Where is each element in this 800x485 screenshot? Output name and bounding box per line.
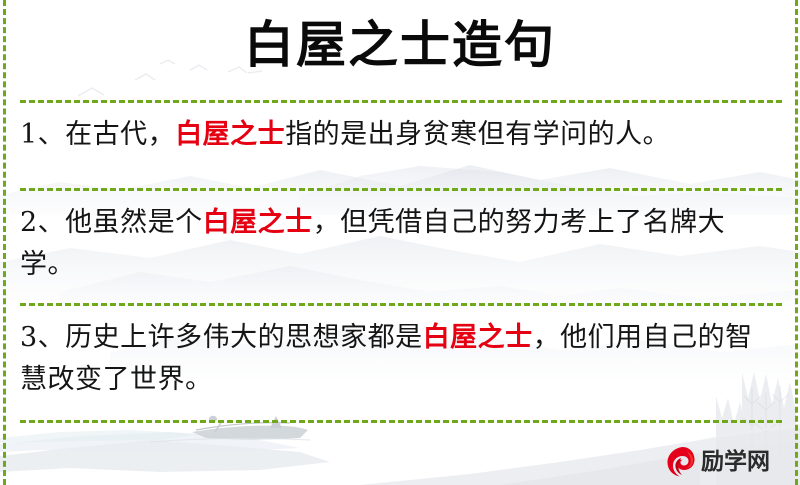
red-swirl-flame-icon [666, 446, 696, 478]
divider-2 [20, 303, 782, 306]
sentence-suffix: 指的是出身贫寒但有学问的人。 [285, 119, 670, 150]
sentence-prefix: 1、在古代， [20, 119, 175, 150]
frame-rail-left [3, 0, 6, 485]
divider-top [20, 100, 782, 103]
list-item: 3、历史上许多伟大的思想家都是白屋之士，他们用自己的智慧改变了世界。 [0, 303, 800, 420]
idiom-highlight: 白屋之士 [423, 322, 533, 353]
sentence-prefix: 3、历史上许多伟大的思想家都是 [20, 322, 423, 353]
document-page: 白屋之士造句 1、在古代，白屋之士指的是出身贫寒但有学问的人。 2、他虽然是个白… [0, 0, 800, 485]
idiom-highlight: 白屋之士 [175, 119, 285, 150]
divider-bottom [20, 420, 782, 423]
list-item: 2、他虽然是个白屋之士，但凭借自己的努力考上了名牌大学。 [0, 188, 800, 303]
example-sentence-list: 1、在古代，白屋之士指的是出身贫寒但有学问的人。 2、他虽然是个白屋之士，但凭借… [0, 100, 800, 420]
sentence-prefix: 2、他虽然是个 [20, 207, 203, 238]
idiom-highlight: 白屋之士 [203, 207, 313, 238]
frame-rail-right [795, 0, 798, 485]
page-title: 白屋之士造句 [0, 14, 800, 76]
site-logo-text: 励学网 [701, 447, 770, 477]
site-logo[interactable]: 励学网 [666, 446, 770, 478]
divider-1 [20, 188, 782, 191]
list-item: 1、在古代，白屋之士指的是出身贫寒但有学问的人。 [0, 100, 800, 188]
